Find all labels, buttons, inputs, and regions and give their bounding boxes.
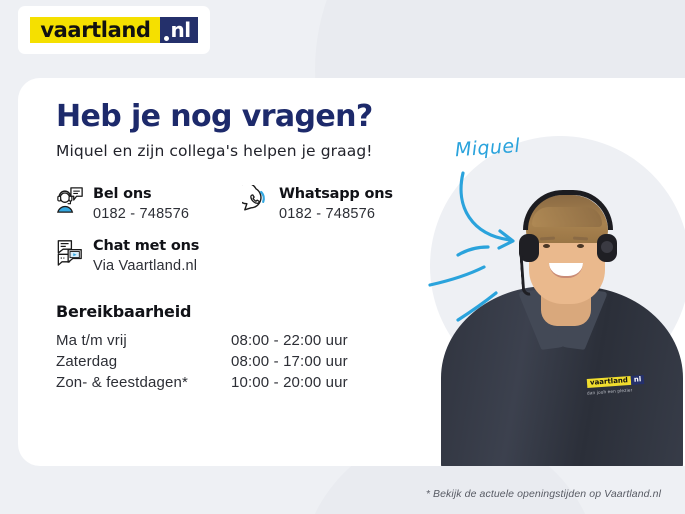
contact-chat-value[interactable]: Via Vaartland.nl [93, 258, 199, 274]
vaartland-logo[interactable]: vaartland nl [18, 6, 210, 54]
page-title: Heb je nog vragen? [56, 101, 446, 133]
table-row: Zon- & feestdagen* 10:00 - 20:00 uur [56, 372, 348, 393]
availability-title: Bereikbaarheid [56, 302, 446, 321]
contact-whatsapp-text: Whatsapp ons 0182 - 748576 [279, 184, 393, 222]
contact-chat-text: Chat met ons Via Vaartland.nl [93, 236, 199, 274]
contact-call-text: Bel ons 0182 - 748576 [93, 184, 189, 222]
agent-eye-right [577, 244, 584, 248]
availability-section: Bereikbaarheid Ma t/m vrij 08:00 - 22:00… [56, 302, 446, 393]
agent-figure: vaartland nl dan jouh een plezier [437, 134, 685, 466]
contact-methods: Bel ons 0182 - 748576 Whatsapp ons 0182 … [56, 184, 446, 274]
contact-call-title: Bel ons [93, 186, 151, 202]
page-subtitle: Miquel en zijn collega's helpen je graag… [56, 142, 446, 160]
whatsapp-icon [242, 185, 270, 215]
logo-inner: vaartland nl [30, 17, 197, 43]
agent-eye-left [543, 244, 550, 248]
agent-name-annotation: Miquel [454, 135, 521, 161]
contact-whatsapp-title: Whatsapp ons [279, 186, 393, 202]
polo-logo-tld: nl [631, 375, 645, 385]
table-row: Zaterdag 08:00 - 17:00 uur [56, 351, 348, 372]
contact-card: vaartland nl dan jouh een plezier Heb je… [18, 78, 685, 466]
contact-chat-title: Chat met ons [93, 238, 199, 254]
contact-grid-spacer [242, 236, 446, 274]
logo-tld-badge: nl [160, 17, 198, 43]
table-row: Ma t/m vrij 08:00 - 22:00 uur [56, 330, 348, 351]
availability-day: Ma t/m vrij [56, 330, 231, 351]
availability-time: 10:00 - 20:00 uur [231, 372, 348, 393]
headset-earcup-right [597, 234, 617, 262]
availability-day: Zon- & feestdagen* [56, 372, 231, 393]
card-content: Heb je nog vragen? Miquel en zijn colleg… [56, 101, 446, 393]
availability-time: 08:00 - 22:00 uur [231, 330, 348, 351]
contact-method-call[interactable]: Bel ons 0182 - 748576 [56, 184, 242, 222]
agent-photo: vaartland nl dan jouh een plezier [415, 78, 685, 466]
contact-method-whatsapp[interactable]: Whatsapp ons 0182 - 748576 [242, 184, 446, 222]
logo-dot-icon [164, 36, 169, 41]
logo-tld-text: nl [171, 20, 191, 40]
contact-call-number[interactable]: 0182 - 748576 [93, 206, 189, 222]
chat-bubbles-icon [56, 237, 84, 267]
headset-headband-icon [523, 190, 613, 230]
availability-day: Zaterdag [56, 351, 231, 372]
availability-table: Ma t/m vrij 08:00 - 22:00 uur Zaterdag 0… [56, 330, 348, 393]
contact-whatsapp-number[interactable]: 0182 - 748576 [279, 206, 393, 222]
availability-time: 08:00 - 17:00 uur [231, 351, 348, 372]
contact-method-chat[interactable]: Chat met ons Via Vaartland.nl [56, 236, 242, 274]
person-headset-speech-bubble-icon [56, 185, 84, 215]
logo-wordmark: vaartland [30, 17, 159, 43]
footnote-text: * Bekijk de actuele openingstijden op Va… [426, 488, 661, 500]
